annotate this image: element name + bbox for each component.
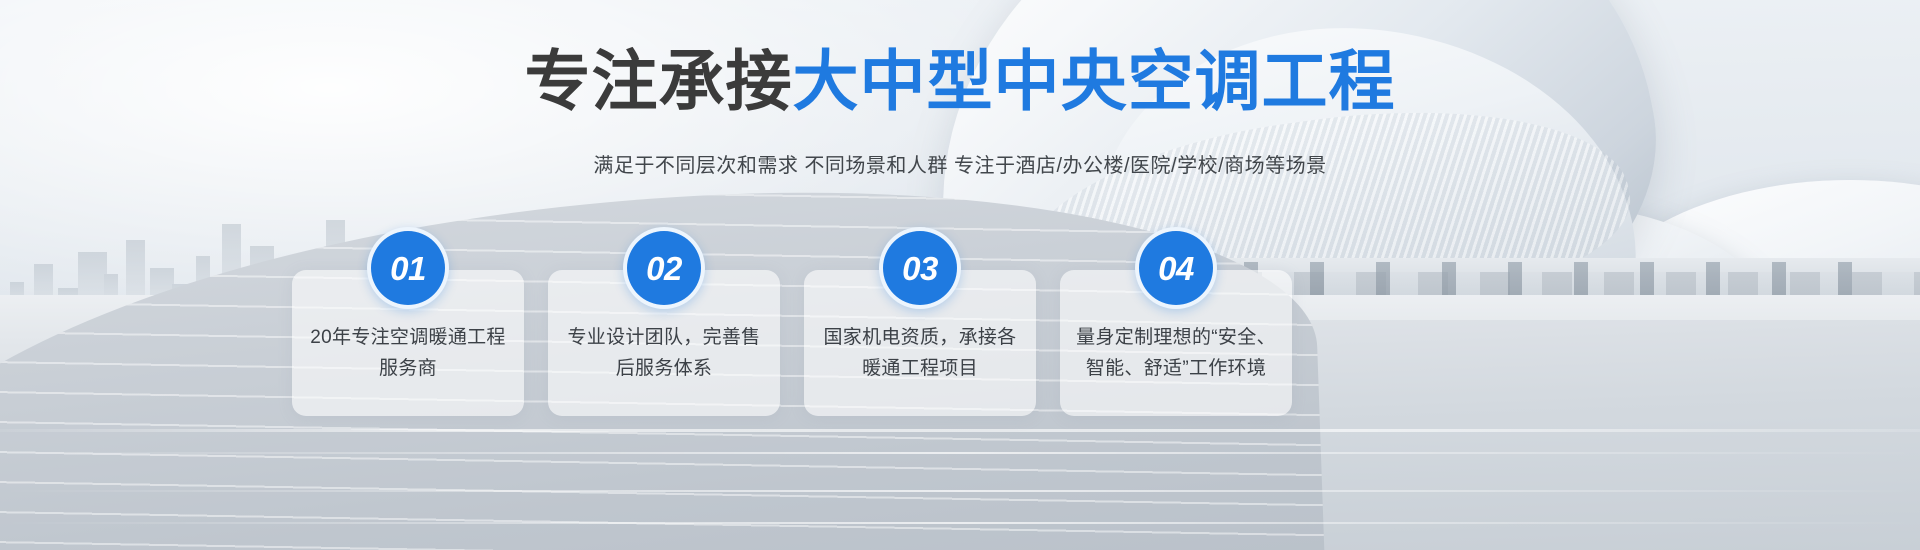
feature-card[interactable]: 04 量身定制理想的“安全、智能、舒适”工作环境 <box>1060 270 1292 416</box>
feature-card-text: 专业设计团队，完善售后服务体系 <box>562 322 766 384</box>
feature-card-number: 04 <box>1158 252 1194 285</box>
feature-card-badge: 02 <box>623 227 705 309</box>
feature-card-badge: 03 <box>879 227 961 309</box>
feature-card-text: 20年专注空调暖通工程服务商 <box>306 322 510 384</box>
feature-card-number: 01 <box>390 252 426 285</box>
feature-card-number: 03 <box>902 252 938 285</box>
feature-card[interactable]: 02 专业设计团队，完善售后服务体系 <box>548 270 780 416</box>
feature-card-badge: 01 <box>367 227 449 309</box>
banner-title: 专注承接大中型中央空调工程 <box>0 44 1920 118</box>
feature-card-list: 01 20年专注空调暖通工程服务商 02 专业设计团队，完善售后服务体系 03 … <box>292 270 1292 435</box>
banner-title-blue: 大中型中央空调工程 <box>793 44 1396 118</box>
feature-card[interactable]: 01 20年专注空调暖通工程服务商 <box>292 270 524 416</box>
feature-card-text: 量身定制理想的“安全、智能、舒适”工作环境 <box>1074 322 1278 384</box>
banner-title-dark: 专注承接 <box>525 44 793 118</box>
feature-card-text: 国家机电资质，承接各暖通工程项目 <box>818 322 1022 384</box>
hero-banner: 专注承接大中型中央空调工程 满足于不同层次和需求 不同场景和人群 专注于酒店/办… <box>0 0 1920 550</box>
feature-card[interactable]: 03 国家机电资质，承接各暖通工程项目 <box>804 270 1036 416</box>
feature-card-number: 02 <box>646 252 682 285</box>
feature-card-badge: 04 <box>1135 227 1217 309</box>
banner-subtitle: 满足于不同层次和需求 不同场景和人群 专注于酒店/办公楼/医院/学校/商场等场景 <box>0 152 1920 180</box>
